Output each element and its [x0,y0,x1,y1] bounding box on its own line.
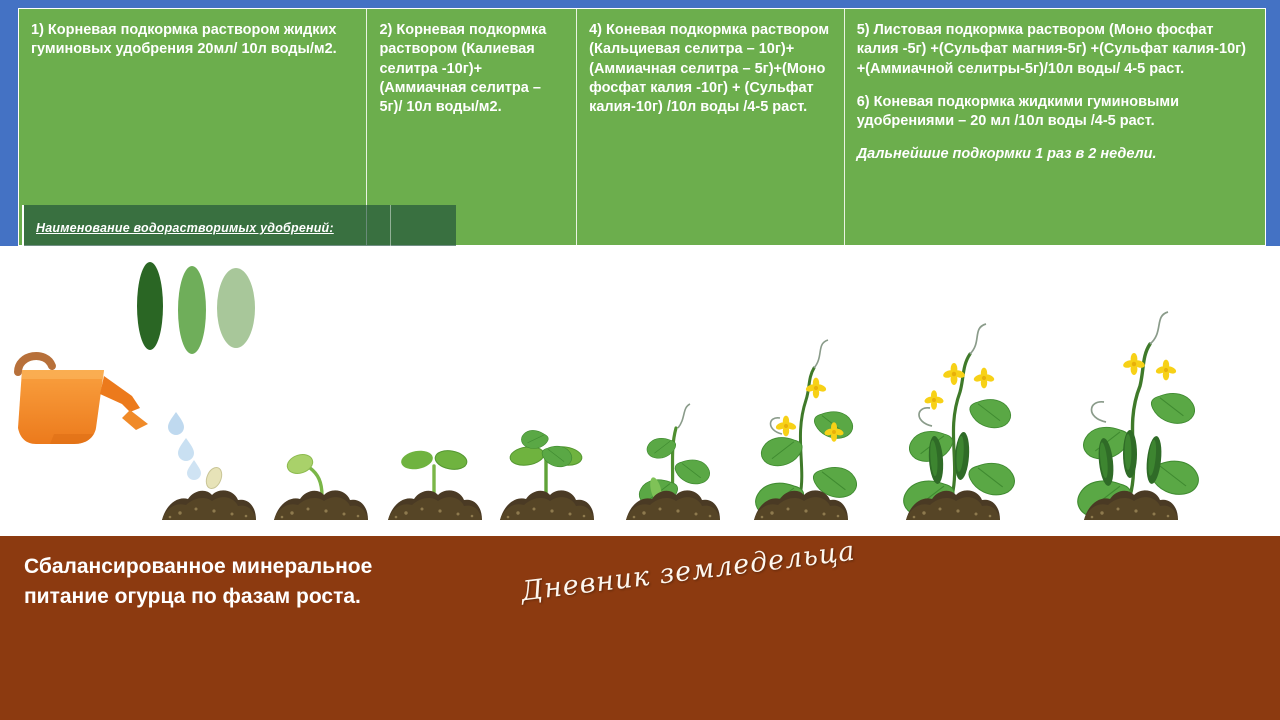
advice-text-2: 2) Корневая подкормка раствором (Калиева… [379,21,566,117]
advice-text-5: 5) Листовая подкормка раствором (Моно фо… [857,21,1255,79]
page-title-line1: Сбалансированное минеральное [24,552,494,582]
fertilizer-heading-divider [390,205,391,251]
diary-label: Дневник земледельца [519,536,857,608]
cucumber-growth-illustration [0,246,1280,538]
fertilizer-list-heading: Наименование водорастворимых удобрений: [22,205,456,251]
page-title: Сбалансированное минеральное питание огу… [24,552,494,612]
advice-text-3: 4) Коневая подкормка раствором (Кальциев… [589,21,834,117]
advice-text-6: 6) Коневая подкормка жидкими гуминовыми … [857,93,1255,132]
bottom-banner: Сбалансированное минеральное питание огу… [0,536,1280,720]
advice-text-1: 1) Корневая подкормка раствором жидких г… [31,21,356,60]
slide-canvas: 1) Корневая подкормка раствором жидких г… [0,0,1280,720]
advice-column-3: 4) Коневая подкормка раствором (Кальциев… [576,9,844,245]
page-title-line2: питание огурца по фазам роста. [24,582,494,612]
fertilizer-list-heading-label: Наименование водорастворимых удобрений: [36,221,334,235]
decorative-cucumbers [137,262,255,354]
advice-column-4: 5) Листовая подкормка раствором (Моно фо… [844,9,1265,245]
advice-followup-note: Дальнейшие подкормки 1 раз в 2 недели. [857,145,1255,164]
